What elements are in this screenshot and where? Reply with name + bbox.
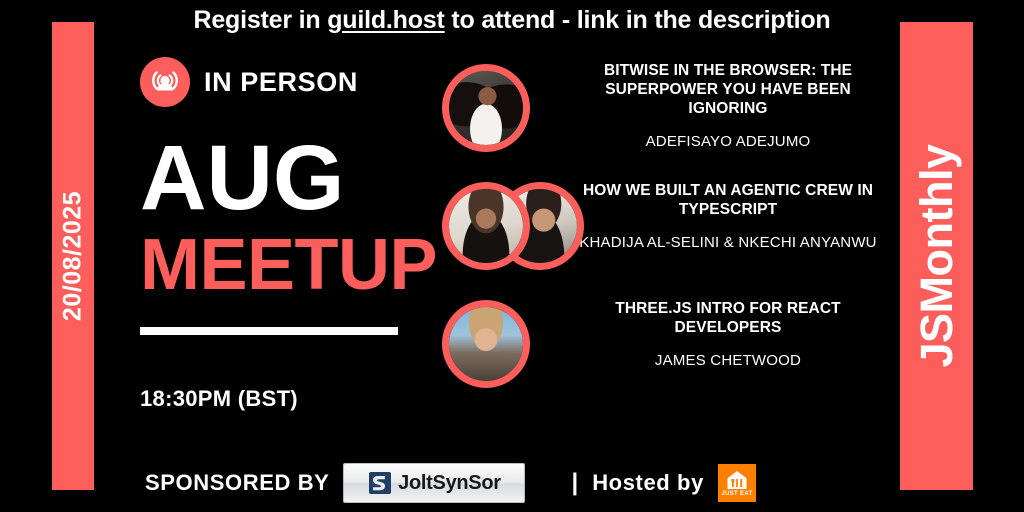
hosted-by-label: Hosted by: [592, 470, 704, 496]
brand-sidebar: JSMonthly: [900, 22, 973, 490]
meetup-poster: Register in guild.host to attend - link …: [0, 0, 1024, 512]
speaker-avatars: [438, 298, 568, 394]
divider-rule: [140, 327, 398, 335]
sponsor-logo[interactable]: JoltSynSor: [343, 463, 525, 503]
avatar: [442, 182, 530, 270]
event-details-column: IN PERSON AUG MEETUP 18:30PM (BST): [140, 56, 430, 412]
month-heading: AUG: [140, 136, 430, 221]
avatar-photo: [449, 189, 523, 263]
in-person-badge: IN PERSON: [140, 56, 430, 108]
talk-text: THREE.JS INTRO FOR REACT DEVELOPERS JAME…: [568, 298, 888, 371]
banner-suffix: to attend - link in the description: [445, 6, 831, 34]
talk-item: THREE.JS INTRO FOR REACT DEVELOPERS JAME…: [438, 298, 888, 394]
event-time: 18:30PM (BST): [140, 386, 430, 412]
talk-title: HOW WE BUILT AN AGENTIC CREW IN TYPESCRI…: [583, 182, 873, 218]
joltsynsor-s-mark-icon: [368, 471, 392, 495]
avatar-photo: [449, 71, 523, 145]
event-date: 20/08/2025: [59, 191, 88, 321]
talk-speaker: ADEFISAYO ADEJUMO: [568, 133, 888, 152]
guild-host-link[interactable]: guild.host: [327, 6, 444, 34]
talk-text: BITWISE IN THE BROWSER: THE SUPERPOWER Y…: [568, 62, 888, 151]
brand-name: JSMonthly: [911, 144, 963, 367]
just-eat-house-cutlery-icon[interactable]: JUST EAT: [718, 464, 756, 502]
talk-item: HOW WE BUILT AN AGENTIC CREW IN TYPESCRI…: [438, 180, 888, 276]
sponsored-by-label: SPONSORED BY: [145, 470, 329, 496]
just-eat-wordmark: JUST EAT: [721, 491, 752, 497]
meetup-heading: MEETUP: [140, 231, 430, 299]
registration-banner: Register in guild.host to attend - link …: [0, 6, 1024, 35]
speaker-avatars: [438, 62, 568, 158]
banner-prefix: Register in: [193, 6, 327, 34]
talks-list: BITWISE IN THE BROWSER: THE SUPERPOWER Y…: [438, 62, 888, 416]
talk-title: THREE.JS INTRO FOR REACT DEVELOPERS: [615, 300, 840, 336]
sponsor-name: JoltSynSor: [398, 472, 501, 495]
talk-title: BITWISE IN THE BROWSER: THE SUPERPOWER Y…: [604, 62, 852, 117]
talk-item: BITWISE IN THE BROWSER: THE SUPERPOWER Y…: [438, 62, 888, 158]
avatar: [442, 300, 530, 388]
in-person-label: IN PERSON: [204, 67, 358, 98]
footer-bar: SPONSORED BY JoltSynSor | Hosted by JUST…: [145, 462, 756, 504]
talk-speaker: JAMES CHETWOOD: [568, 352, 888, 371]
avatar: [442, 64, 530, 152]
talk-text: HOW WE BUILT AN AGENTIC CREW IN TYPESCRI…: [568, 180, 888, 253]
date-sidebar: 20/08/2025: [52, 22, 94, 490]
talk-speaker: KHADIJA AL-SELINI & NKECHI ANYANWU: [568, 234, 888, 253]
avatar-photo: [449, 307, 523, 381]
footer-separator: |: [571, 469, 578, 497]
in-person-broadcast-icon: [140, 57, 190, 107]
speaker-avatars: [438, 180, 568, 276]
